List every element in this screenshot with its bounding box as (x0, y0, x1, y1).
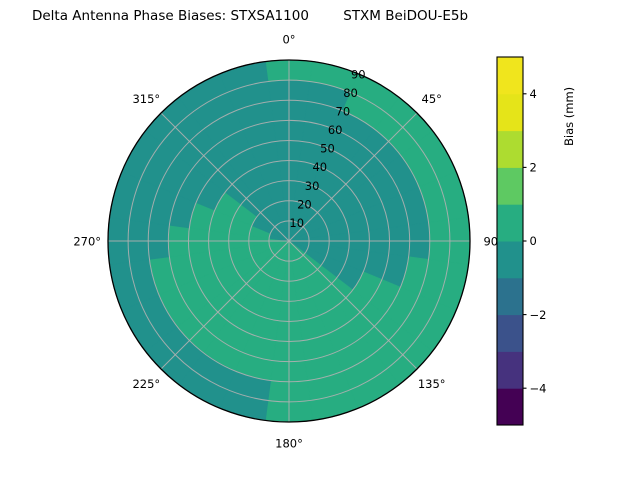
radial-tick-70: 70 (336, 104, 351, 118)
radial-tick-40: 40 (312, 160, 327, 174)
colorbar-swatch-3 (497, 278, 523, 315)
colorbar-swatch-2 (497, 315, 523, 352)
colorbar-swatch-9 (497, 57, 523, 94)
angular-tick-315: 315° (132, 92, 160, 106)
radial-tick-30: 30 (305, 179, 320, 193)
angular-tick-0: 0° (282, 33, 295, 47)
angular-tick-90: 90 (483, 235, 498, 249)
radial-tick-10: 10 (289, 216, 304, 230)
radial-tick-20: 20 (297, 197, 312, 211)
angular-tick-225: 225° (132, 377, 160, 391)
colorbar-tick-label: 2 (530, 161, 537, 175)
colorbar-swatch-5 (497, 204, 523, 241)
radial-tick-50: 50 (320, 142, 335, 156)
colorbar[interactable]: 420−2−4 (497, 57, 546, 426)
polar-plot: 0°45°90135°180°225°270°315° 102030405060… (0, 0, 640, 480)
colorbar-swatch-1 (497, 351, 523, 388)
angular-tick-135: 135° (418, 377, 446, 391)
colorbar-swatch-7 (497, 131, 523, 168)
radial-tick-80: 80 (343, 86, 358, 100)
colorbar-swatch-6 (497, 167, 523, 204)
figure-canvas: Delta Antenna Phase Biases: STXSA1100 ST… (0, 0, 640, 480)
angular-tick-270: 270° (73, 235, 101, 249)
colorbar-swatch-8 (497, 94, 523, 131)
polar-grid (108, 60, 470, 422)
colorbar-tick-label: −2 (530, 308, 547, 322)
angular-tick-180: 180° (275, 436, 303, 450)
colorbar-tick-label: 4 (530, 87, 537, 101)
colorbar-swatch-0 (497, 388, 523, 425)
radial-tick-90: 90 (351, 67, 366, 81)
angular-tick-45: 45° (422, 92, 442, 106)
colorbar-axis-label: Bias (mm) (562, 0, 576, 146)
colorbar-tick-label: −4 (530, 381, 547, 395)
colorbar-swatch-4 (497, 241, 523, 278)
radial-tick-60: 60 (328, 123, 343, 137)
colorbar-tick-label: 0 (530, 234, 537, 248)
